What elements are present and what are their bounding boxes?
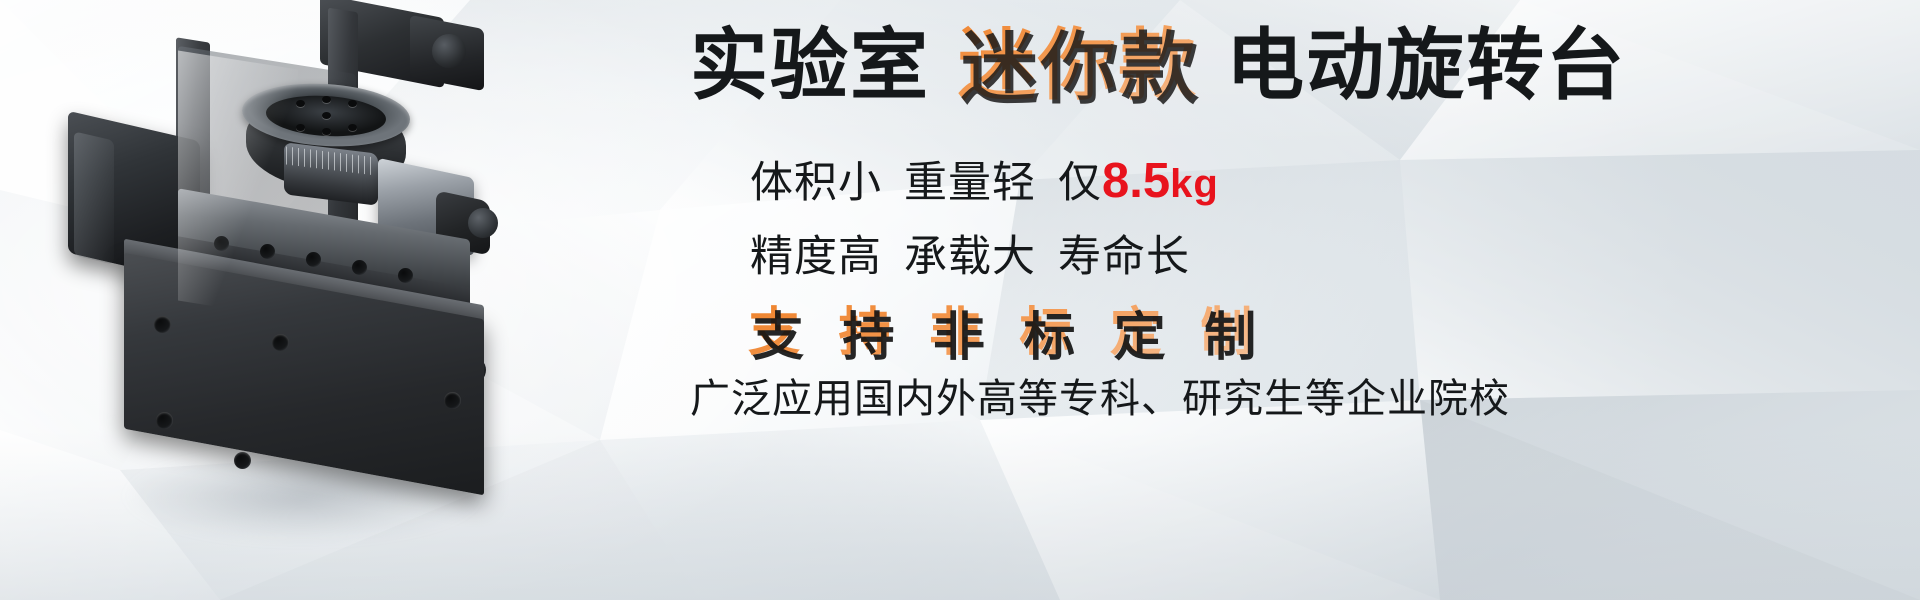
- product-mid-hole: [260, 244, 275, 259]
- spec-weight-prefix: 仅: [1058, 159, 1102, 207]
- spec-line-1: 体积小重量轻仅8.5kg: [750, 148, 1219, 210]
- product-base-hole: [444, 392, 461, 409]
- headline-part-1: 实验室: [690, 21, 930, 109]
- custom-order-line: 支 持 非 标 定 制: [748, 290, 1264, 365]
- product-base-hole: [234, 452, 251, 469]
- product-top-knob: [432, 34, 466, 68]
- product-base-hole: [272, 334, 289, 351]
- product-rotary-hole: [296, 100, 305, 107]
- product-rotary-hole: [322, 112, 331, 119]
- headline: 实验室迷你款电动旋转台: [690, 26, 1626, 104]
- product-mid-hole: [214, 236, 229, 251]
- product-base-hole: [154, 316, 171, 333]
- product-rotary-hole: [296, 124, 305, 131]
- copy-block: 实验室迷你款电动旋转台 体积小重量轻仅8.5kg 精度高承载大寿命长 支 持 非…: [690, 0, 1880, 600]
- product-rotary-hole: [322, 96, 331, 103]
- product-rotary-hole: [348, 100, 357, 107]
- spec-weight-value: 8.5: [1102, 154, 1170, 208]
- product-motor-right-shaft: [468, 208, 498, 238]
- product-mid-hole: [398, 268, 413, 283]
- product-base-hole: [156, 412, 173, 429]
- headline-part-2: 电动旋转台: [1226, 21, 1626, 109]
- product-rotary-hole: [322, 128, 331, 135]
- product-mid-hole: [352, 260, 367, 275]
- spec-feature-precision: 精度高: [750, 233, 882, 281]
- product-banner: 实验室迷你款电动旋转台 体积小重量轻仅8.5kg 精度高承载大寿命长 支 持 非…: [0, 0, 1920, 600]
- spec-feature-lifespan: 寿命长: [1058, 233, 1190, 281]
- spec-weight-unit: kg: [1170, 162, 1219, 206]
- spec-feature-weight: 重量轻: [904, 159, 1036, 207]
- headline-accent: 迷你款: [952, 21, 1204, 109]
- spec-feature-load: 承载大: [904, 233, 1036, 281]
- spec-feature-size: 体积小: [750, 159, 882, 207]
- product-mid-hole: [306, 252, 321, 267]
- spec-line-2: 精度高承载大寿命长: [750, 222, 1190, 284]
- application-line: 广泛应用国内外高等专科、研究生等企业院校: [690, 366, 1510, 424]
- product-rotary-hole: [348, 124, 357, 131]
- product-motor-left-face: [74, 131, 114, 264]
- product-image: [28, 0, 668, 600]
